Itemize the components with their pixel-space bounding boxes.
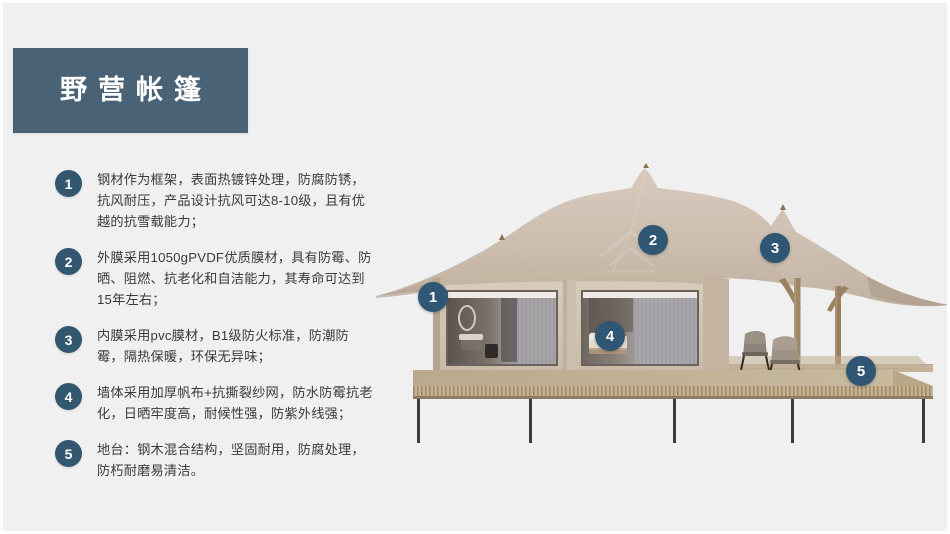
tent-graphic [373, 148, 950, 448]
deck-leg-1 [417, 399, 420, 443]
hotspot-marker-3[interactable]: 3 [760, 233, 790, 263]
deck-leg-4 [791, 399, 794, 443]
hotspot-marker-4[interactable]: 4 [595, 321, 625, 351]
deck-slat-fascia [413, 386, 933, 396]
tent-illustration [373, 148, 950, 448]
feature-text-4: 墙体采用加厚帆布+抗撕裂纱网，防水防霉抗老化，日晒牢度高，耐候性强，防紫外线强； [97, 382, 375, 424]
terrace-floor [729, 356, 933, 372]
wall-return-right [703, 275, 729, 370]
feature-badge-1: 1 [55, 170, 82, 197]
deck-leg-2 [529, 399, 532, 443]
title-banner: 野营帐篷 [13, 48, 248, 133]
feature-text-1: 钢材作为框架，表面热镀锌处理，防腐防锈，抗风耐压，产品设计抗风可达8-10级，且… [97, 169, 375, 232]
terrace-rug [729, 356, 933, 372]
page-title: 野营帐篷 [49, 77, 212, 104]
window-right-curtain [635, 298, 697, 364]
feature-text-5: 地台：钢木混合结构，坚固耐用，防腐处理，防朽耐磨易清洁。 [97, 439, 375, 481]
canopy-right-tip [867, 276, 949, 306]
deck-leg-5 [922, 399, 925, 443]
hotspot-marker-2[interactable]: 2 [638, 225, 668, 255]
window-right-blind [583, 292, 697, 298]
feature-item-1: 1 钢材作为框架，表面热镀锌处理，防腐防锈，抗风耐压，产品设计抗风可达8-10级… [55, 169, 375, 232]
hotspot-marker-5[interactable]: 5 [846, 356, 876, 386]
peak-cap-right [780, 204, 786, 210]
window-left [446, 290, 558, 366]
interior-basket [485, 344, 498, 358]
tent-body [433, 272, 729, 370]
feature-badge-2: 2 [55, 248, 82, 275]
window-left-curtain [519, 298, 556, 364]
interior-sink [459, 334, 483, 340]
feature-item-3: 3 内膜采用pvc膜材，B1级防火标准，防潮防霉，隔热保暖，环保无异味； [55, 325, 375, 367]
feature-text-3: 内膜采用pvc膜材，B1级防火标准，防潮防霉，隔热保暖，环保无异味； [97, 325, 375, 367]
deck-wedge [893, 370, 933, 386]
feature-item-2: 2 外膜采用1050gPVDF优质膜材，具有防霉、防晒、阻燃、抗老化和自洁能力，… [55, 247, 375, 310]
feature-badge-5: 5 [55, 440, 82, 467]
interior-doorway [501, 298, 517, 362]
hotspot-marker-1[interactable]: 1 [418, 282, 448, 312]
feature-item-4: 4 墙体采用加厚帆布+抗撕裂纱网，防水防霉抗老化，日晒牢度高，耐候性强，防紫外线… [55, 382, 375, 424]
feature-list: 1 钢材作为框架，表面热镀锌处理，防腐防锈，抗风耐压，产品设计抗风可达8-10级… [55, 169, 375, 481]
window-left-blind [448, 292, 556, 298]
deck-leg-3 [673, 399, 676, 443]
peak-cap-center [643, 163, 649, 168]
peak-cap-left [499, 234, 505, 240]
feature-text-2: 外膜采用1050gPVDF优质膜材，具有防霉、防晒、阻燃、抗老化和自洁能力，其寿… [97, 247, 375, 310]
feature-item-5: 5 地台：钢木混合结构，坚固耐用，防腐处理，防朽耐磨易清洁。 [55, 439, 375, 481]
feature-badge-3: 3 [55, 326, 82, 353]
feature-badge-4: 4 [55, 383, 82, 410]
deck-fascia-shadow [413, 396, 933, 399]
slide-canvas: 野营帐篷 1 钢材作为框架，表面热镀锌处理，防腐防锈，抗风耐压，产品设计抗风可达… [0, 0, 950, 534]
